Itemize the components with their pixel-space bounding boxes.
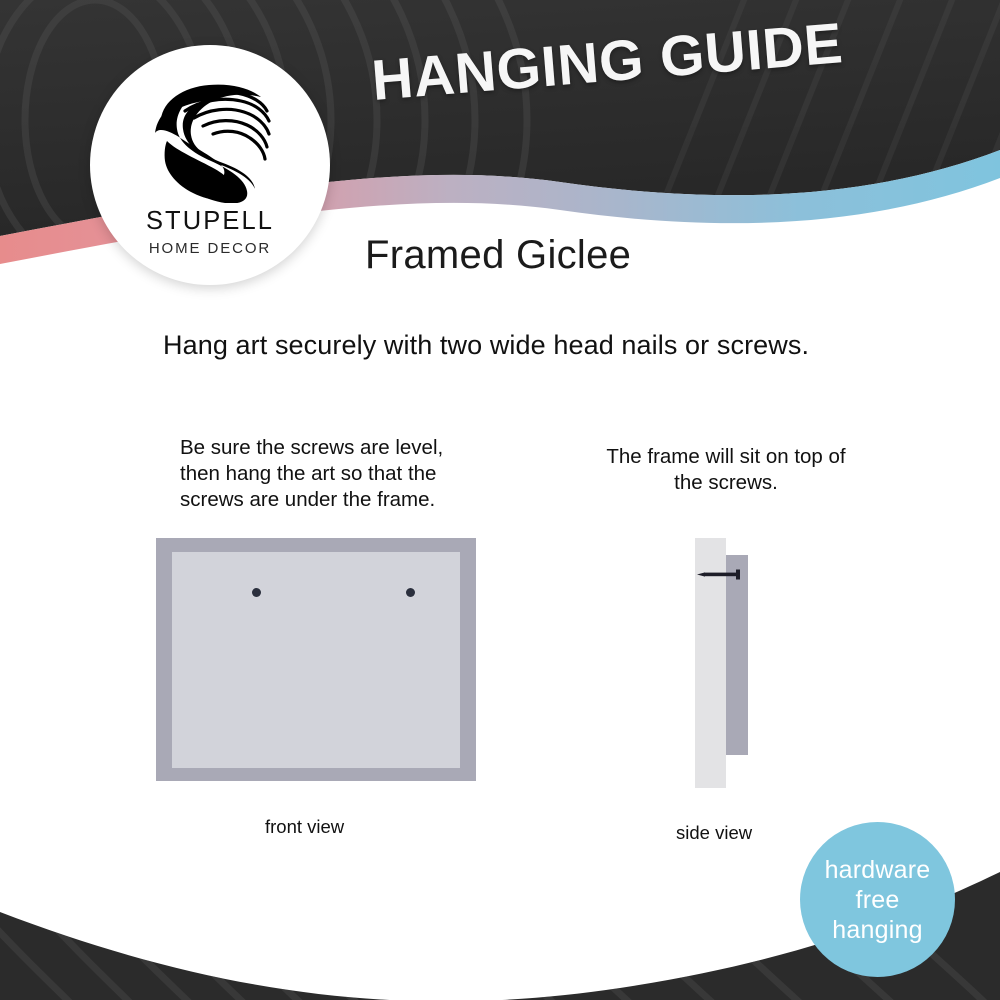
page-title: HANGING GUIDE [369,10,845,114]
side-view-label: side view [676,822,752,844]
front-view-diagram [156,538,476,781]
hardware-free-hanging-badge: hardware free hanging [800,822,955,977]
brand-logo-badge: STUPELL HOME DECOR [90,45,330,285]
side-view-frame [726,555,748,755]
side-view-diagram [670,525,790,815]
product-type-label: Framed Giclee [365,233,631,278]
stupell-s-swoosh-icon [141,71,279,203]
logo-wordmark: STUPELL [146,209,274,235]
screw-hole-right-icon [406,588,415,597]
side-view-caption: The frame will sit on top of the screws. [595,444,857,496]
front-view-art-area [172,552,460,768]
front-view-caption: Be sure the screws are level, then hang … [180,435,470,513]
main-instruction-text: Hang art securely with two wide head nai… [163,330,809,361]
front-view-label: front view [265,816,344,838]
badge-line-3: hanging [832,915,922,945]
badge-line-1: hardware [825,855,931,885]
screw-hole-left-icon [252,588,261,597]
badge-line-2: free [856,885,900,915]
logo-tagline: HOME DECOR [149,241,271,256]
hanging-guide-page: STUPELL HOME DECOR HANGING GUIDE Framed … [0,0,1000,1000]
nail-icon [697,569,745,580]
